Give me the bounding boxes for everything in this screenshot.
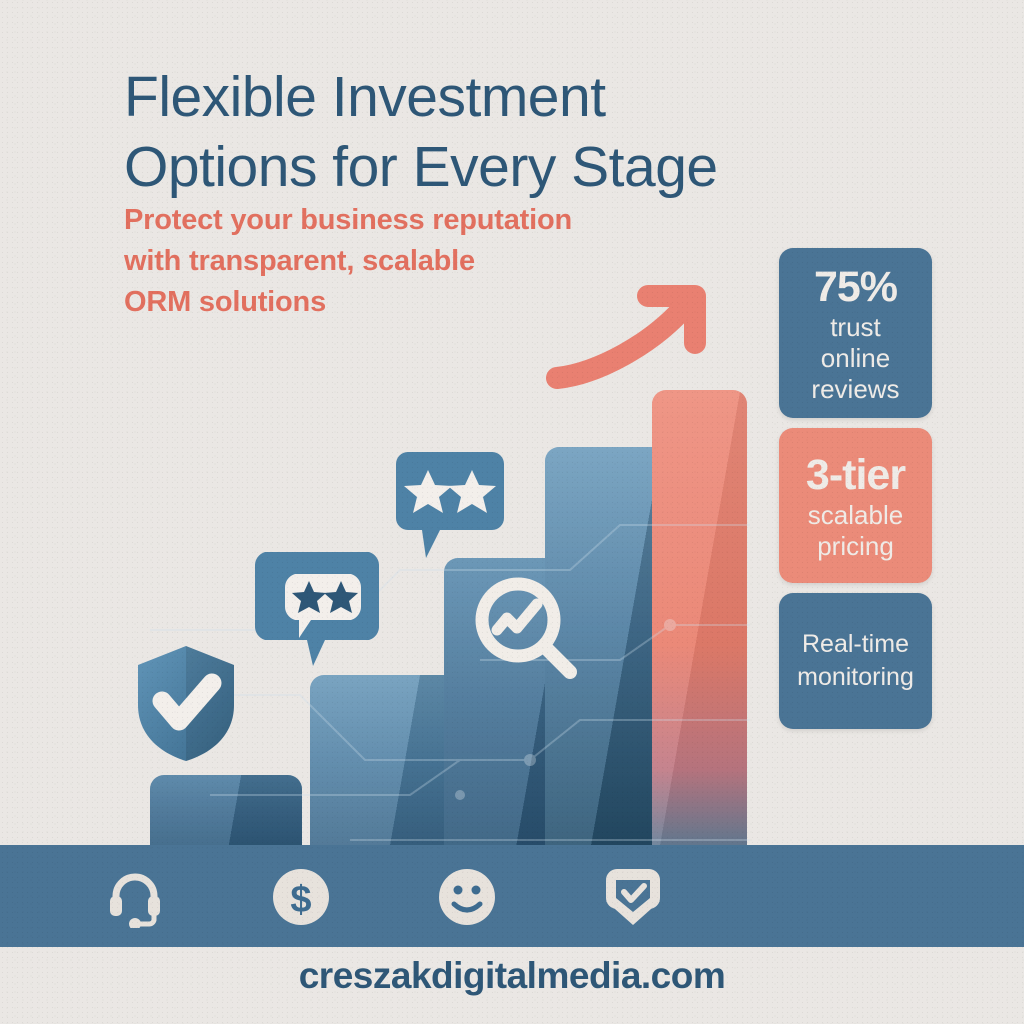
rating-bubble-stars-icon [396,450,504,558]
website-url[interactable]: creszakdigitalmedia.com [0,955,1024,997]
stat-card-trust[interactable]: 75% trust online reviews [779,248,932,418]
smiley-face-icon[interactable] [436,866,498,928]
infographic-poster: Flexible Investment Options for Every St… [0,0,1024,1024]
stat-card-value: 3-tier [806,450,905,500]
bar-shading [150,775,302,853]
growth-arrow-icon [545,282,720,392]
stat-card-label: Real-time monitoring [797,628,914,694]
headline-line-2: Options for Every Stage [124,132,764,202]
footer-icon-row: $ [0,862,768,932]
stat-card-label-line-3: reviews [811,374,899,405]
stat-card-monitoring[interactable]: Real-time monitoring [779,593,932,729]
headset-icon[interactable] [104,866,166,928]
shield-check-badge-icon[interactable] [602,866,664,928]
subhead-line-2: with transparent, scalable [124,241,684,282]
stat-card-label: trust online reviews [811,312,899,405]
bar-shading [652,390,747,853]
stat-card-label-line-1: trust [811,312,899,343]
magnifier-analytics-icon [470,572,582,684]
chart-bar-5 [652,390,747,853]
stat-card-label-line-2: online [811,343,899,374]
page-title: Flexible Investment Options for Every St… [124,62,764,202]
stat-card-label-line-1: scalable [808,500,903,531]
chart-bar-1 [150,775,302,853]
chart-bar-2 [310,675,462,853]
stat-card-label-line-1: Real-time [797,628,914,661]
stat-card-value: 75% [814,262,897,312]
dollar-circle-icon[interactable]: $ [270,866,332,928]
stat-card-label-line-2: monitoring [797,661,914,694]
subhead-line-1: Protect your business reputation [124,200,684,241]
stat-card-label-line-2: pricing [808,531,903,562]
review-bubble-stars-icon [255,548,379,666]
bar-shading [310,675,462,853]
shield-check-icon [134,643,238,763]
stat-card-label: scalable pricing [808,500,903,562]
stat-card-pricing[interactable]: 3-tier scalable pricing [779,428,932,583]
svg-text:$: $ [290,879,311,921]
headline-line-1: Flexible Investment [124,65,606,129]
